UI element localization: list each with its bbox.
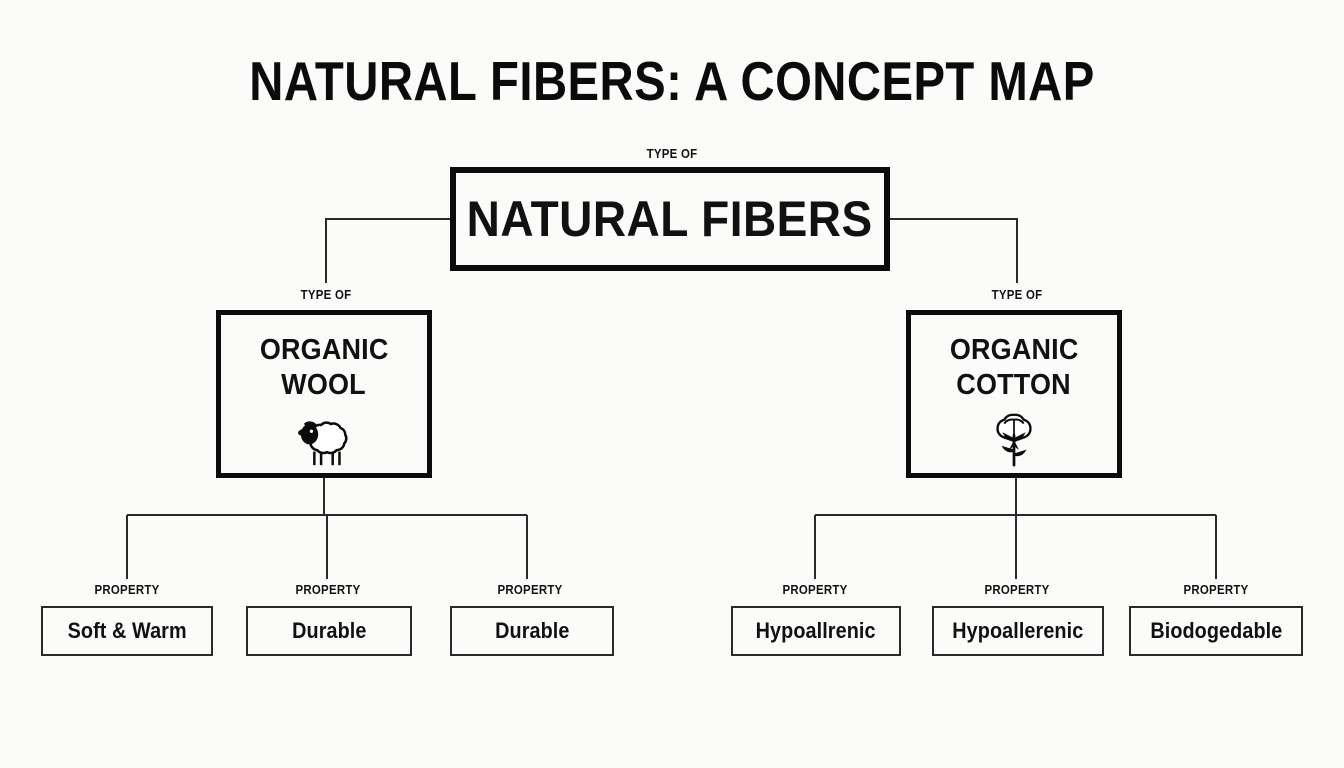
- node-wool-property-2[interactable]: Durable: [246, 606, 412, 656]
- edge-label-root: TYPE OF: [647, 146, 698, 161]
- node-cotton-property-2-label: Hypoallerenic: [952, 618, 1083, 644]
- edge-label-wool-property-2: PROPERTY: [295, 582, 360, 597]
- node-wool-property-2-label: Durable: [292, 618, 366, 644]
- cotton-flower-icon: [983, 411, 1045, 469]
- node-cotton-property-3[interactable]: Biodogedable: [1129, 606, 1303, 656]
- edge-root-to-wool: [326, 219, 450, 283]
- edge-label-wool-property-3: PROPERTY: [497, 582, 562, 597]
- node-cotton-property-1-label: Hypoallrenic: [756, 618, 876, 644]
- edge-label-cotton: TYPE OF: [992, 287, 1043, 302]
- node-wool-property-1[interactable]: Soft & Warm: [41, 606, 213, 656]
- node-cotton-property-2[interactable]: Hypoallerenic: [932, 606, 1104, 656]
- node-wool-property-3-label: Durable: [495, 618, 569, 644]
- edge-root-to-cotton: [890, 219, 1017, 283]
- edge-label-cotton-property-2: PROPERTY: [984, 582, 1049, 597]
- node-organic-cotton[interactable]: ORGANIC COTTON: [906, 310, 1122, 478]
- node-cotton-property-1[interactable]: Hypoallrenic: [731, 606, 901, 656]
- node-natural-fibers[interactable]: NATURAL FIBERS: [450, 167, 890, 271]
- node-wool-property-3[interactable]: Durable: [450, 606, 614, 656]
- node-cotton-property-3-label: Biodogedable: [1150, 618, 1282, 644]
- node-organic-wool-label-line1: ORGANIC: [260, 333, 389, 368]
- sheep-icon: [293, 411, 355, 469]
- edge-label-wool-property-1: PROPERTY: [94, 582, 159, 597]
- node-wool-property-1-label: Soft & Warm: [67, 618, 186, 644]
- edge-label-cotton-property-1: PROPERTY: [782, 582, 847, 597]
- edge-label-wool: TYPE OF: [301, 287, 352, 302]
- edge-label-cotton-property-3: PROPERTY: [1183, 582, 1248, 597]
- page-title: NATURAL FIBERS: A CONCEPT MAP: [94, 50, 1250, 112]
- node-natural-fibers-label: NATURAL FIBERS: [467, 191, 873, 247]
- node-organic-wool[interactable]: ORGANIC WOOL: [216, 310, 432, 478]
- concept-map-canvas: NATURAL FIBERS: A CONCEPT MAP TYPE OF TY…: [0, 0, 1344, 768]
- node-organic-cotton-label-line1: ORGANIC: [950, 333, 1079, 368]
- node-organic-cotton-label-line2: COTTON: [957, 368, 1071, 403]
- node-organic-wool-label-line2: WOOL: [282, 368, 367, 403]
